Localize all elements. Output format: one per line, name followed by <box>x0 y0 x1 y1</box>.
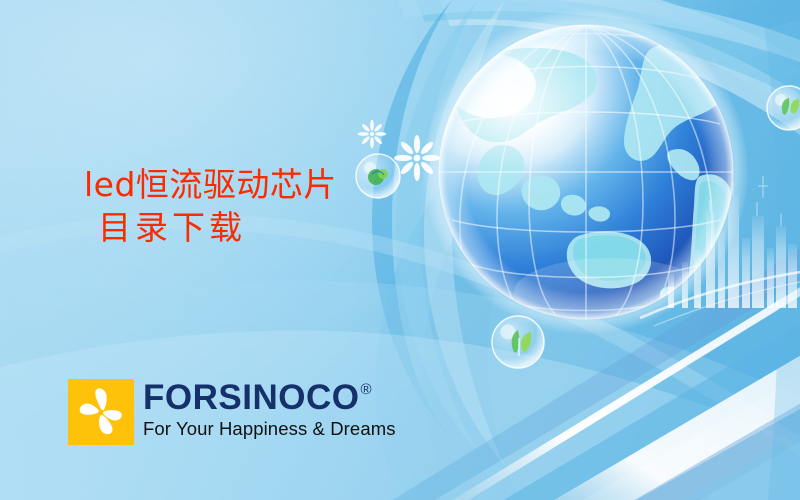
logo-wordmark: FORSINOCO ® <box>143 380 372 415</box>
ribbon-white-wide <box>520 344 800 500</box>
sparkle-2 <box>358 120 387 149</box>
bubble-leaf-icon <box>492 316 544 368</box>
logo-text-block: FORSINOCO ® For Your Happiness & Dreams <box>143 380 396 440</box>
promo-banner: led恒流驱动芯片 目录下载 FORSINOCO ® For Your Happ… <box>0 0 800 500</box>
registered-trademark-icon: ® <box>360 382 372 397</box>
logo-tagline: For Your Happiness & Dreams <box>143 418 396 440</box>
ribbon-white-thin <box>420 275 800 500</box>
bubble-globe-icon <box>356 154 400 198</box>
forsinoco-logo-mark <box>68 379 134 445</box>
headline-block: led恒流驱动芯片 目录下载 <box>84 164 337 250</box>
sparkle-1 <box>394 135 440 181</box>
bubble-right-icon <box>767 86 800 130</box>
logo-wordmark-text: FORSINOCO <box>143 380 359 415</box>
headline-line-1: led恒流驱动芯片 <box>84 164 337 207</box>
headline-line-2: 目录下载 <box>84 207 337 250</box>
pinwheel-flower-icon <box>68 379 134 445</box>
company-logo: FORSINOCO ® For Your Happiness & Dreams <box>68 379 396 445</box>
